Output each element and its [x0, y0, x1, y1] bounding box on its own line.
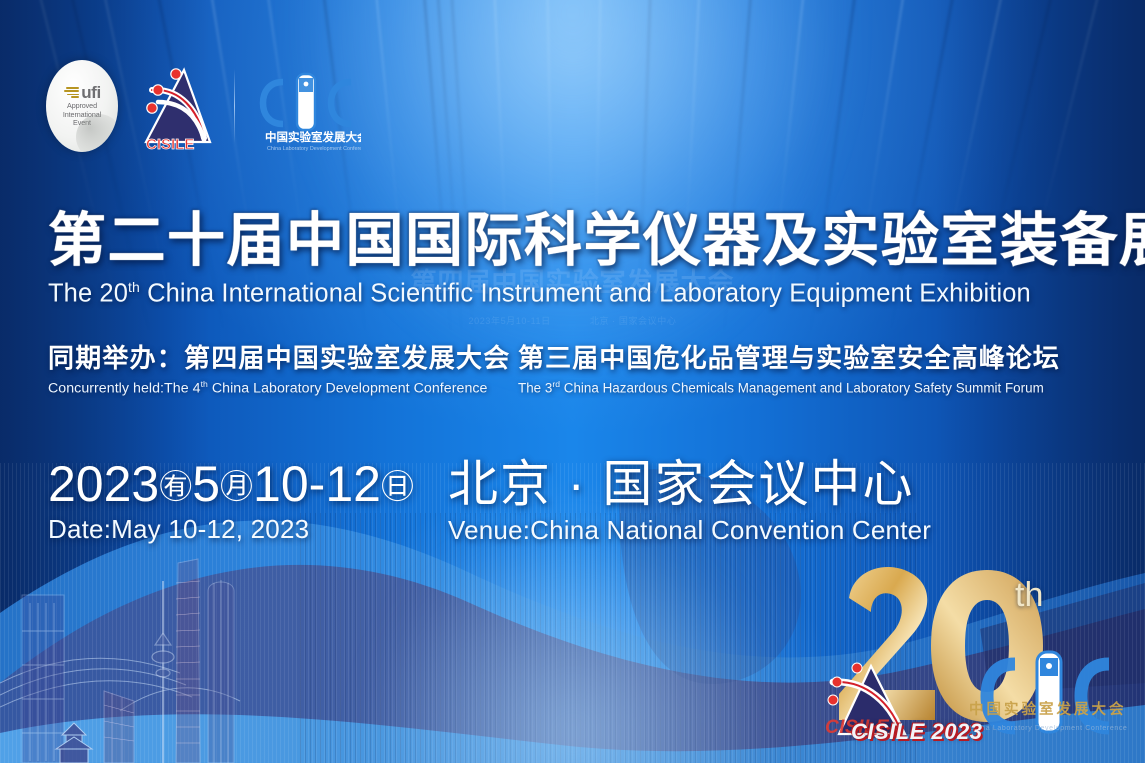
ufi-wordmark: ufi: [81, 84, 101, 101]
date-days: 10-12: [253, 456, 381, 512]
date-day-mark-icon: ㊐: [381, 468, 414, 505]
venue-block: 北京 · 国家会议中心 Venue:China National Convent…: [448, 458, 931, 546]
cic-logo: 中国实验室发展大会 China Laboratory Development C…: [253, 60, 361, 152]
svg-text:China Laboratory Development C: China Laboratory Development Conference: [267, 146, 361, 152]
date-month-mark-icon: ㊊: [220, 468, 253, 505]
beijing-skyline-silhouette: [0, 533, 420, 763]
watermark-venue: 北京 · 国家会议中心: [590, 316, 677, 326]
concurrent-event-left: 同期举办：第四届中国实验室发展大会 Concurrently held:The …: [48, 344, 518, 397]
ufi-swoosh-icon: [63, 87, 79, 98]
emblem-ordinal: th: [1015, 576, 1043, 615]
concurrent-right-en-rest: China Hazardous Chemicals Management and…: [560, 380, 1044, 395]
date-month: 5: [192, 456, 220, 512]
concurrent-right-en-ordinal: rd: [552, 379, 560, 389]
page-title-en: The 20th China International Scientific …: [48, 280, 1098, 307]
concurrent-right-en: The 3rd China Hazardous Chemicals Manage…: [518, 380, 1060, 396]
concurrent-left-en-ordinal: th: [201, 379, 208, 389]
ufi-approved-badge: ufi Approved International Event: [46, 60, 118, 152]
date-en: Date:May 10-12, 2023: [48, 515, 448, 544]
page-title-en-rest: China International Scientific Instrumen…: [140, 280, 1031, 308]
title-block: 第二十届中国国际科学仪器及实验室装备展览会 The 20th China Int…: [48, 212, 1098, 307]
svg-text:CISILE: CISILE: [146, 136, 194, 152]
background-watermark-subline: 2023年5月10-11日 北京 · 国家会议中心: [0, 314, 1145, 327]
ceiling-light-glow: [293, 0, 853, 380]
logo-divider: [234, 69, 235, 143]
emblem-cisile-wordmark: CISILE 2023: [851, 719, 982, 745]
concurrent-left-cn: 同期举办：第四届中国实验室发展大会: [48, 344, 518, 373]
concurrent-event-right: 第三届中国危化品管理与实验室安全高峰论坛 The 3rd China Hazar…: [518, 344, 1060, 397]
page-title-en-prefix: The 20: [48, 280, 128, 308]
page-title-en-ordinal: th: [128, 279, 140, 295]
concurrent-right-cn: 第三届中国危化品管理与实验室安全高峰论坛: [518, 344, 1060, 373]
header-logo-row: ufi Approved International Event CISILE: [46, 60, 361, 152]
concurrent-right-en-prefix: The 3: [518, 380, 552, 395]
concurrent-left-en: Concurrently held:The 4th China Laborato…: [48, 380, 518, 397]
anniversary-emblem: th 中国实验室发展大会 China Laboratory Developmen…: [819, 554, 1139, 759]
emblem-cisile-caption: CISILE CISILE 2023: [825, 707, 995, 753]
venue-cn: 北京 · 国家会议中心: [448, 458, 931, 511]
date-cn: 2023㊒5㊊10-12㊐: [48, 458, 448, 511]
concurrent-left-en-rest: China Laboratory Development Conference: [208, 380, 488, 396]
concurrent-left-en-prefix: Concurrently held:The 4: [48, 380, 201, 396]
ufi-badge-shading: [76, 114, 118, 152]
date-year: 2023: [48, 456, 159, 512]
date-block: 2023㊒5㊊10-12㊐ Date:May 10-12, 2023: [48, 458, 448, 546]
watermark-date: 2023年5月10-11日: [469, 316, 551, 326]
venue-en: Venue:China National Convention Center: [448, 515, 931, 546]
date-year-mark-icon: ㊒: [159, 468, 192, 505]
date-venue-row: 2023㊒5㊊10-12㊐ Date:May 10-12, 2023 北京 · …: [48, 458, 931, 546]
cisile-triangle-icon: CISILE: [132, 60, 216, 152]
page-title-cn: 第二十届中国国际科学仪器及实验室装备展览会: [48, 212, 1098, 270]
exhibition-poster: ufi Approved International Event CISILE: [0, 0, 1145, 763]
svg-text:中国实验室发展大会: 中国实验室发展大会: [265, 130, 361, 144]
concurrent-events-row: 同期举办：第四届中国实验室发展大会 Concurrently held:The …: [48, 344, 1108, 397]
